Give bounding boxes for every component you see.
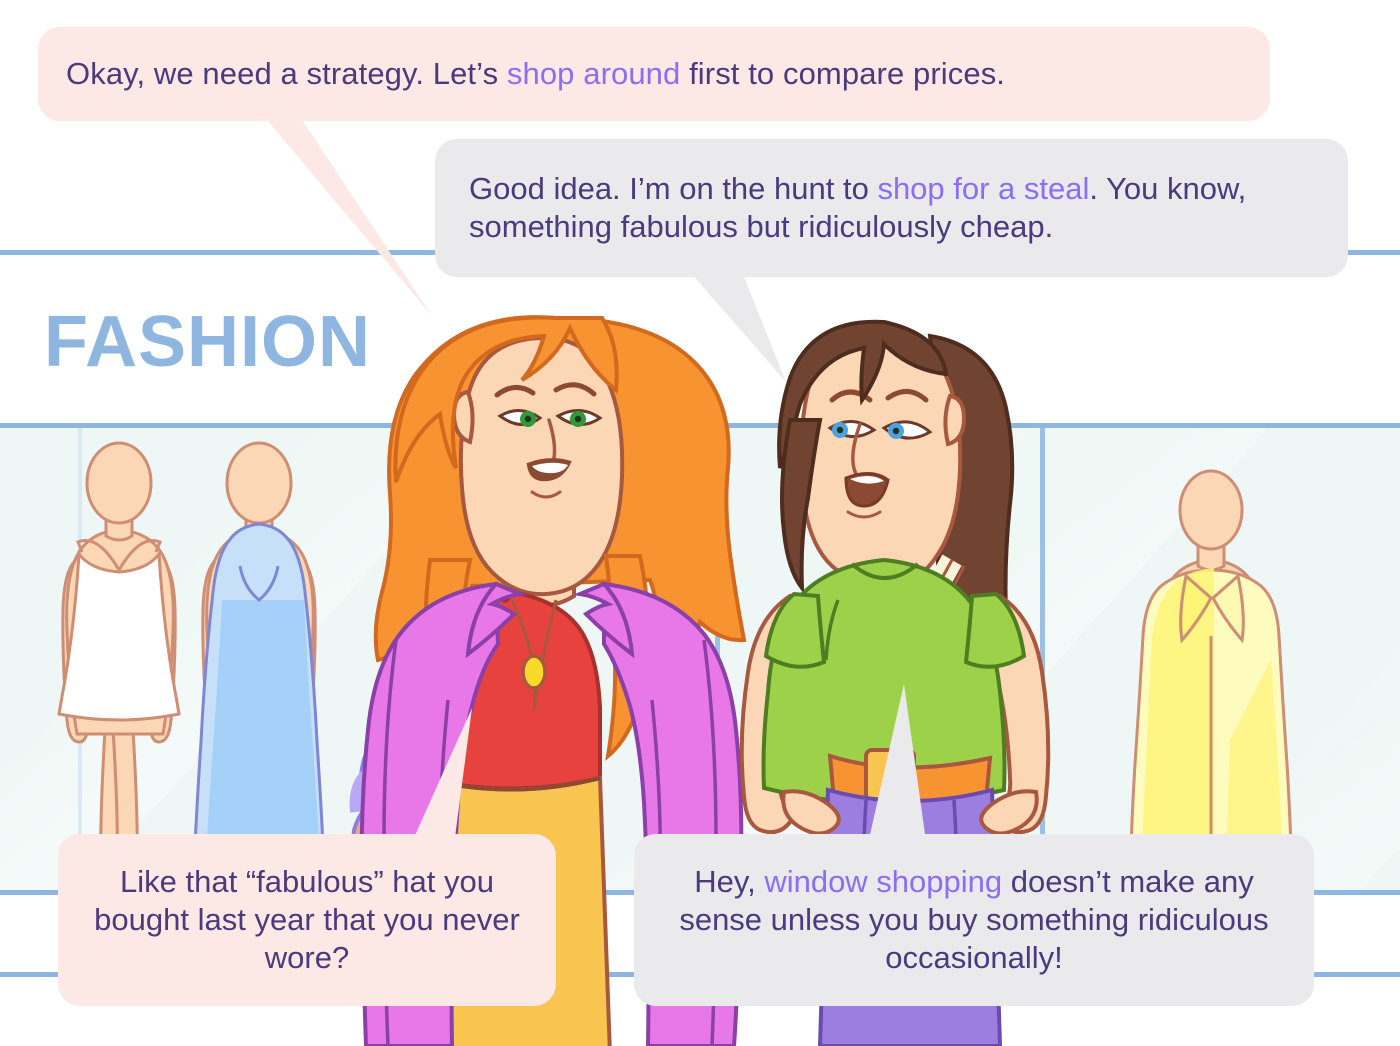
speech-text-bottom-left: Like that “fabulous” hat you bought last… [80, 863, 534, 976]
speech-bubble-bottom-left[interactable]: Like that “fabulous” hat you bought last… [58, 834, 556, 1006]
illustration-scene: FASHION Okay, we need a strategy. Let’s … [0, 0, 1400, 1046]
speech-text-top-left: Okay, we need a strategy. Let’s shop aro… [66, 55, 1005, 93]
mannequin-head [227, 443, 291, 523]
white-slip-dress [59, 554, 179, 720]
speech-text-bottom-right: Hey, window shopping doesn’t make any se… [654, 863, 1294, 976]
mannequin-head [1180, 471, 1242, 549]
speech-bubble-top-right[interactable]: Good idea. I’m on the hunt to shop for a… [435, 139, 1348, 277]
fashion-store-sign: FASHION [44, 306, 371, 378]
speech-text-top-right: Good idea. I’m on the hunt to shop for a… [469, 170, 1314, 246]
mannequin-head [87, 443, 151, 523]
speech-bubble-bottom-right[interactable]: Hey, window shopping doesn’t make any se… [634, 834, 1314, 1006]
speech-bubble-top-left[interactable]: Okay, we need a strategy. Let’s shop aro… [38, 27, 1270, 121]
